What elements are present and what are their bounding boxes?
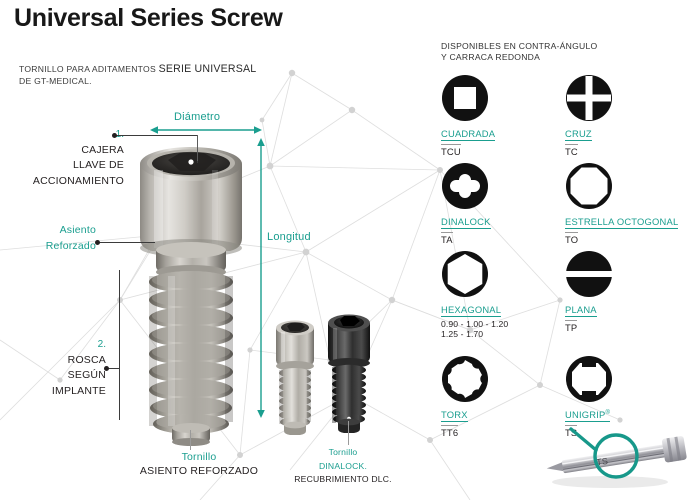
caption-main-screw: Tornillo ASIENTO REFORZADO bbox=[104, 450, 294, 477]
small-dinalock-screw-illustration bbox=[320, 305, 378, 441]
caption-dinalock-teal2: DINALOCK. bbox=[319, 461, 367, 471]
subtitle-line1-small: TORNILLO PARA ADITAMENTOS bbox=[19, 64, 156, 74]
callout-asiento-leader bbox=[99, 242, 155, 243]
screwdriver-illustration: TS bbox=[538, 424, 700, 496]
octagon-drive-icon bbox=[565, 162, 613, 210]
callout-cajera-line1: CAJERA bbox=[81, 144, 124, 156]
drive-item-cuadrada-name: CUADRADA bbox=[441, 128, 495, 141]
callout-rosca-line1: ROSCA bbox=[68, 354, 106, 366]
subtitle-line2: DE GT-MEDICAL. bbox=[19, 76, 92, 86]
main-screw-illustration bbox=[128, 130, 254, 446]
drive-item-torx-name: TORX bbox=[441, 409, 468, 422]
drive-item-hexagonal[interactable]: HEXAGONAL 0.90 - 1.00 - 1.20 1.25 - 1.70 bbox=[441, 250, 566, 340]
callout-asiento-dot bbox=[95, 240, 100, 245]
dinalock-caption-leader bbox=[348, 421, 349, 445]
drive-item-unigrip-name: UNIGRIP® bbox=[565, 409, 610, 422]
drive-item-cuadrada[interactable]: CUADRADA TCU bbox=[441, 74, 566, 160]
hexagon-drive-icon bbox=[441, 250, 489, 298]
caption-dinalock-black: RECUBRIMIENTO DLC. bbox=[294, 474, 392, 484]
callout-rosca-dot bbox=[104, 366, 109, 371]
caption-main-screw-black: ASIENTO REFORZADO bbox=[140, 465, 258, 477]
length-label: Longitud bbox=[267, 231, 311, 243]
callout-rosca-line3: IMPLANTE bbox=[52, 385, 106, 397]
drive-item-cruz-code: TC bbox=[565, 144, 578, 157]
subtitle-line1-big: SERIE UNIVERSAL bbox=[159, 63, 257, 75]
callout-rosca-number: 2. bbox=[98, 339, 106, 350]
diameter-label: Diámetro bbox=[174, 111, 220, 123]
dinalock-drive-icon bbox=[441, 162, 489, 210]
page-title: Universal Series Screw bbox=[14, 4, 283, 33]
drive-item-torx-code: TT6 bbox=[441, 425, 458, 438]
drive-item-hexagonal-size2: 1.25 - 1.70 bbox=[441, 329, 483, 339]
drive-panel-heading: DISPONIBLES EN CONTRA-ÁNGULO Y CARRACA R… bbox=[441, 41, 597, 64]
drive-item-cuadrada-code: TCU bbox=[441, 144, 461, 157]
main-screw-caption-leader bbox=[190, 430, 191, 450]
callout-cajera-dot bbox=[112, 133, 117, 138]
diameter-arrow bbox=[150, 124, 262, 136]
drive-panel-heading-line1: DISPONIBLES EN CONTRA-ÁNGULO bbox=[441, 41, 597, 51]
callout-cajera-line3: ACCIONAMIENTO bbox=[33, 175, 124, 187]
callout-cajera-line2: LLAVE DE bbox=[73, 159, 124, 171]
caption-main-screw-teal: Tornillo bbox=[182, 451, 217, 463]
drive-item-hexagonal-size1: 0.90 - 1.00 - 1.20 bbox=[441, 319, 508, 329]
drive-item-dinalock[interactable]: DINALOCK TA bbox=[441, 162, 566, 248]
drive-item-dinalock-name: DINALOCK bbox=[441, 216, 491, 229]
callout-rosca-line2: SEGÚN bbox=[68, 369, 106, 381]
drive-item-dinalock-code: TA bbox=[441, 232, 453, 245]
callout-asiento: Asiento Reforzado bbox=[0, 222, 96, 253]
drive-item-plana-code: TP bbox=[565, 320, 577, 333]
drive-item-unigrip-name-text: UNIGRIP bbox=[565, 409, 605, 420]
small-silver-screw-illustration bbox=[268, 312, 322, 440]
torx-drive-icon bbox=[441, 355, 489, 403]
caption-dinalock-teal1: Tornillo bbox=[329, 447, 358, 457]
length-arrow bbox=[255, 138, 267, 418]
drive-item-estrella-name: ESTRELLA OCTOGONAL bbox=[565, 216, 678, 229]
diameter-tick-line bbox=[197, 135, 198, 161]
drive-item-unigrip-superscript: ® bbox=[605, 410, 610, 416]
callout-rosca-bracket bbox=[119, 270, 120, 420]
flat-drive-icon bbox=[565, 250, 613, 298]
infographic-stage: Universal Series Screw TORNILLO PARA ADI… bbox=[0, 0, 700, 500]
drive-item-hexagonal-sizes: 0.90 - 1.00 - 1.20 1.25 - 1.70 bbox=[441, 319, 566, 340]
drive-item-cruz[interactable]: CRUZ TC bbox=[565, 74, 690, 160]
callout-asiento-line2: Reforzado bbox=[46, 240, 96, 252]
drive-item-plana[interactable]: PLANA TP bbox=[565, 250, 690, 336]
drive-panel-heading-line2: Y CARRACA REDONDA bbox=[441, 52, 540, 62]
drive-item-estrella-octogonal[interactable]: ESTRELLA OCTOGONAL TO bbox=[565, 162, 690, 248]
drive-item-cruz-name: CRUZ bbox=[565, 128, 592, 141]
subtitle-block: TORNILLO PARA ADITAMENTOS SERIE UNIVERSA… bbox=[19, 64, 256, 87]
callout-asiento-line1: Asiento bbox=[60, 224, 96, 236]
drive-item-plana-name: PLANA bbox=[565, 304, 597, 317]
callout-cajera: 1. CAJERA LLAVE DE ACCIONAMIENTO bbox=[0, 126, 124, 188]
drive-item-estrella-code: TO bbox=[565, 232, 578, 245]
caption-dinalock-screw: Tornillo DINALOCK. RECUBRIMIENTO DLC. bbox=[284, 445, 402, 486]
drive-item-hexagonal-name: HEXAGONAL bbox=[441, 304, 501, 317]
cross-drive-icon bbox=[565, 74, 613, 122]
callout-rosca: 2. ROSCA SEGÚN IMPLANTE bbox=[0, 336, 106, 398]
square-drive-icon bbox=[441, 74, 489, 122]
unigrip-drive-icon bbox=[565, 355, 613, 403]
